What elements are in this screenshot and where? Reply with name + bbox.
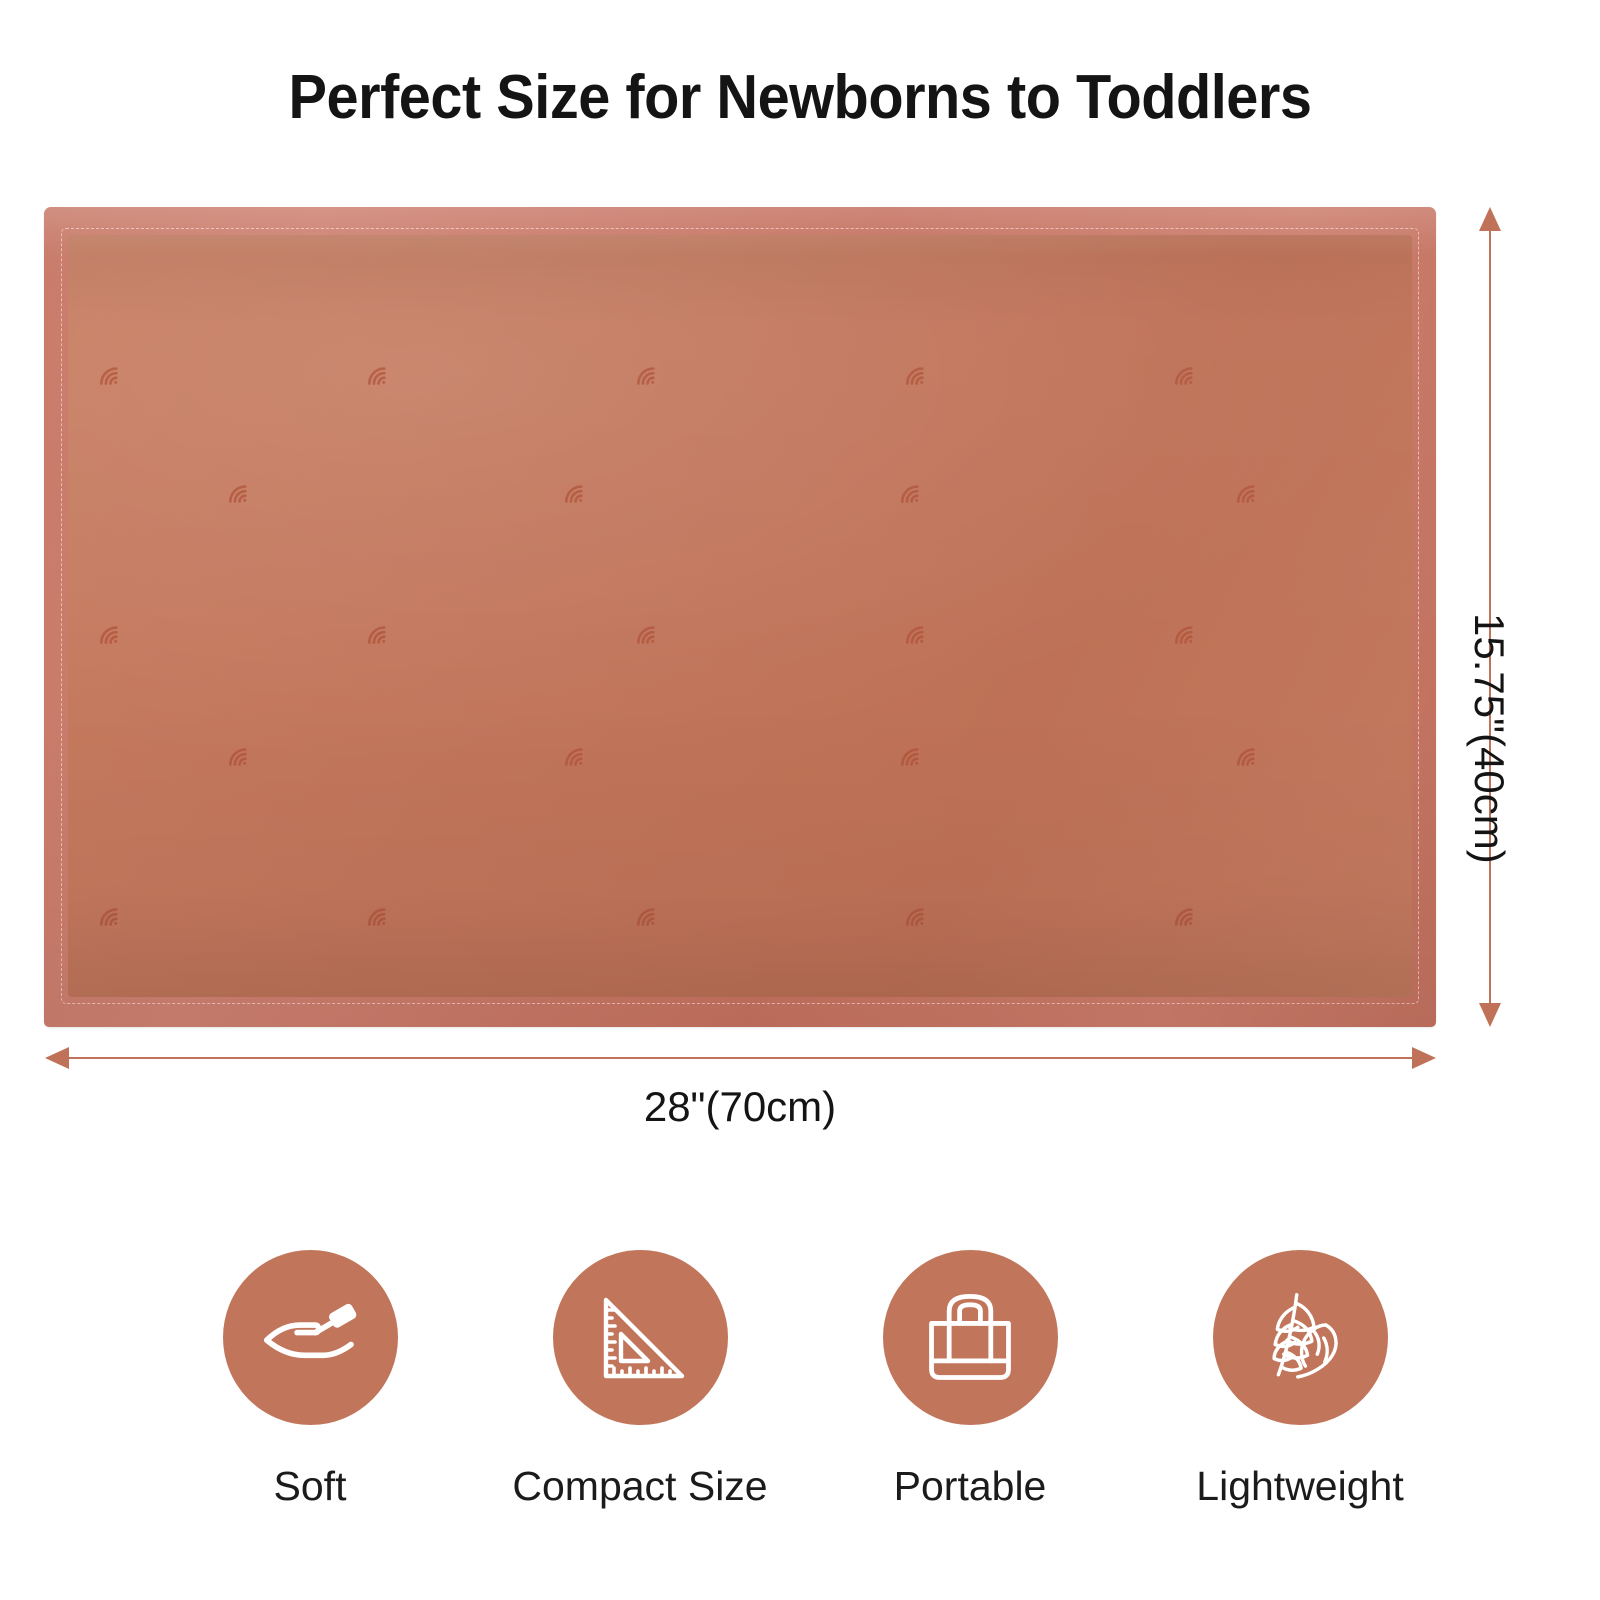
mat-pattern-arc-icon — [897, 608, 943, 654]
width-arrow-left-icon — [45, 1047, 69, 1069]
feature-item-compact-size: Compact Size — [510, 1250, 770, 1510]
mat-pattern-arc-icon — [220, 467, 266, 513]
mat-pattern-arc-icon — [897, 349, 943, 395]
mat-pattern-arc-icon — [359, 890, 405, 936]
mat-printed-surface — [68, 235, 1412, 997]
feature-list: Soft Compact Size — [180, 1250, 1430, 1510]
page-title: Perfect Size for Newborns to Toddlers — [56, 62, 1544, 133]
mat-pattern-arc-icon — [628, 890, 674, 936]
mat-pattern-arc-icon — [91, 890, 137, 936]
feature-item-lightweight: Lightweight — [1170, 1250, 1430, 1510]
mat-pattern-arc-icon — [359, 608, 405, 654]
triangle-ruler-icon — [553, 1250, 728, 1425]
mat-pattern-arc-icon — [628, 608, 674, 654]
mat-binding-trim — [44, 207, 1436, 1027]
feather-icon — [1213, 1250, 1388, 1425]
hand-holding-fabric-icon — [223, 1250, 398, 1425]
mat-pattern-arc-icon — [1166, 608, 1212, 654]
mat-pattern-arc-icon — [1228, 467, 1274, 513]
width-dimension-label: 28"(70cm) — [0, 1083, 1480, 1131]
height-arrow-down-icon — [1479, 1003, 1501, 1027]
mat-pattern-arc-icon — [1166, 349, 1212, 395]
mat-pattern-arc-icon — [556, 467, 602, 513]
mat-pattern-arc-icon — [359, 349, 405, 395]
feature-label-soft: Soft — [274, 1463, 347, 1510]
mat-pattern-arc-icon — [1166, 890, 1212, 936]
mat-pattern-arc-icon — [892, 730, 938, 776]
mat-pattern-arc-icon — [91, 608, 137, 654]
product-mat — [44, 207, 1436, 1027]
mat-pattern-arc-icon — [892, 467, 938, 513]
width-dimension-line — [60, 1057, 1424, 1059]
mat-pattern-arc-icon — [91, 349, 137, 395]
height-dimension-label: 15.75"(40cm) — [1465, 613, 1513, 864]
mat-pattern-arc-icon — [628, 349, 674, 395]
mat-pattern-arc-icon — [897, 890, 943, 936]
width-arrow-right-icon — [1412, 1047, 1436, 1069]
mat-pattern-arc-icon — [220, 730, 266, 776]
feature-item-soft: Soft — [180, 1250, 440, 1510]
feature-label-portable: Portable — [894, 1463, 1047, 1510]
height-arrow-up-icon — [1479, 207, 1501, 231]
mat-pattern-arc-icon — [1228, 730, 1274, 776]
feature-item-portable: Portable — [840, 1250, 1100, 1510]
feature-label-lightweight: Lightweight — [1196, 1463, 1403, 1510]
feature-label-compact-size: Compact Size — [512, 1463, 767, 1510]
mat-pattern-arc-icon — [556, 730, 602, 776]
tote-bag-icon — [883, 1250, 1058, 1425]
